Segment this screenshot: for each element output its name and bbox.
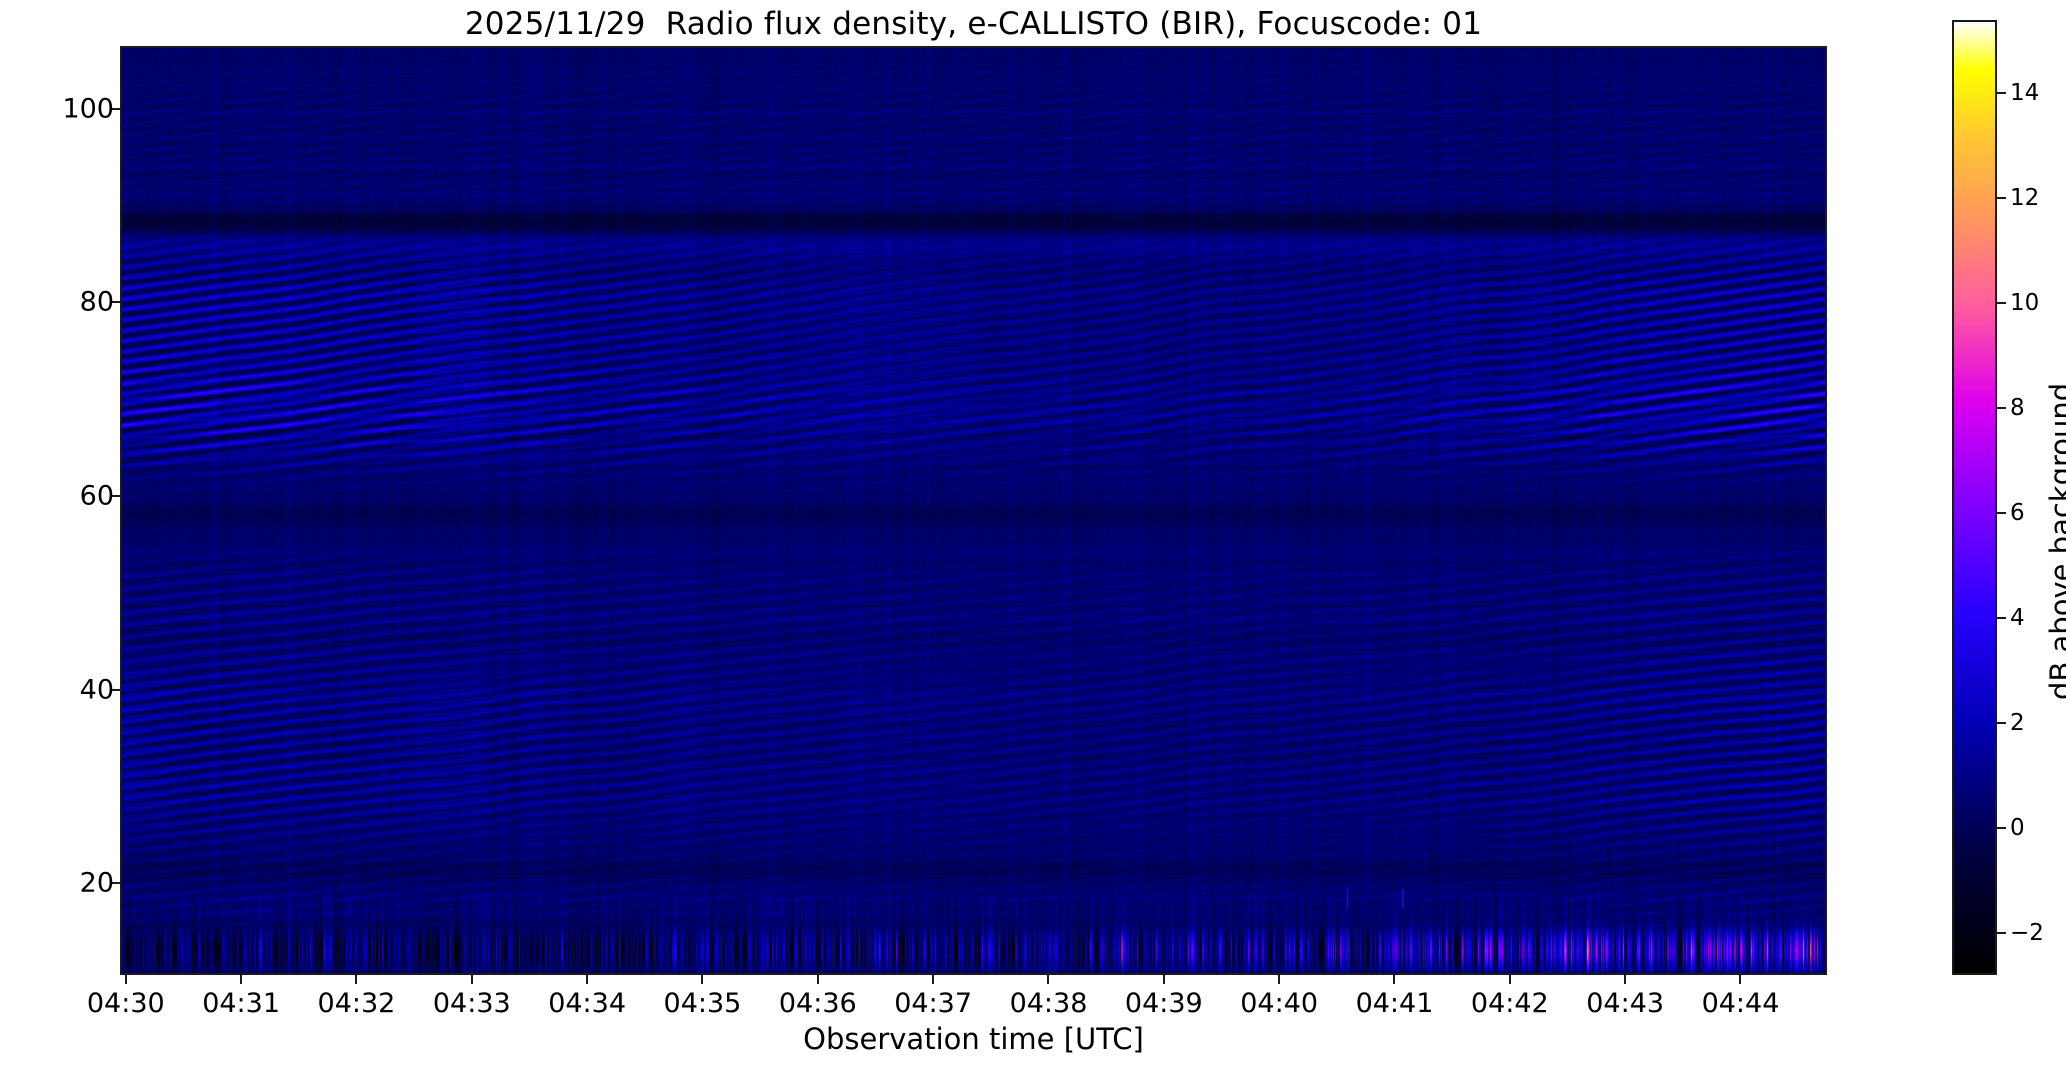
colorbar-tick-label: 6 [2010,500,2025,526]
colorbar-tick-mark [1997,197,2006,199]
x-tick-label: 04:30 [87,988,165,1019]
y-tick-label: 80 [80,287,114,318]
colorbar-tick-label: −2 [2010,920,2044,946]
x-tick-mark [355,975,357,984]
colorbar-tick-label: 8 [2010,395,2025,421]
colorbar-tick-label: 4 [2010,605,2025,631]
colorbar [1952,20,1997,975]
spectrogram-canvas [122,48,1827,975]
x-tick-label: 04:35 [664,988,742,1019]
x-tick-mark [1509,975,1511,984]
x-tick-mark [1624,975,1626,984]
page-title: 2025/11/29 Radio flux density, e-CALLIST… [120,6,1827,42]
x-tick-mark [1278,975,1280,984]
x-tick-mark [1163,975,1165,984]
x-tick-label: 04:41 [1356,988,1434,1019]
y-tick-label: 40 [80,674,114,705]
x-tick-mark [1393,975,1395,984]
x-tick-mark [1047,975,1049,984]
colorbar-tick-label: 0 [2010,815,2025,841]
x-axis-label: Observation time [UTC] [120,1022,1827,1056]
colorbar-tick-mark [1997,407,2006,409]
x-tick-label: 04:34 [548,988,626,1019]
colorbar-tick-label: 14 [2010,80,2039,106]
x-tick-label: 04:39 [1125,988,1203,1019]
colorbar-tick-label: 2 [2010,710,2025,736]
x-tick-mark [240,975,242,984]
x-tick-label: 04:43 [1586,988,1664,1019]
x-tick-label: 04:36 [779,988,857,1019]
x-tick-mark [932,975,934,984]
colorbar-tick-mark [1997,302,2006,304]
x-tick-label: 04:32 [318,988,396,1019]
y-tick-label: 100 [62,93,114,124]
spectrogram-plot-area [120,46,1827,975]
x-tick-mark [471,975,473,984]
x-tick-mark [817,975,819,984]
colorbar-tick-label: 10 [2010,290,2039,316]
y-tick-label: 20 [80,868,114,899]
colorbar-tick-mark [1997,932,2006,934]
x-tick-label: 04:42 [1471,988,1549,1019]
colorbar-tick-label: 12 [2010,185,2039,211]
x-tick-label: 04:40 [1240,988,1318,1019]
spectrogram-figure: 2025/11/29 Radio flux density, e-CALLIST… [0,0,2066,1067]
x-tick-mark [1739,975,1741,984]
colorbar-gradient [1954,22,1995,973]
colorbar-tick-mark [1997,512,2006,514]
x-tick-label: 04:38 [1010,988,1088,1019]
colorbar-tick-mark [1997,827,2006,829]
x-tick-label: 04:37 [894,988,972,1019]
colorbar-label: dB above background [2044,383,2066,700]
x-tick-label: 04:44 [1702,988,1780,1019]
x-tick-mark [125,975,127,984]
x-tick-label: 04:31 [202,988,280,1019]
y-tick-label: 60 [80,480,114,511]
colorbar-tick-mark [1997,617,2006,619]
x-tick-mark [586,975,588,984]
x-tick-mark [701,975,703,984]
colorbar-tick-mark [1997,722,2006,724]
x-tick-label: 04:33 [433,988,511,1019]
colorbar-tick-mark [1997,92,2006,94]
